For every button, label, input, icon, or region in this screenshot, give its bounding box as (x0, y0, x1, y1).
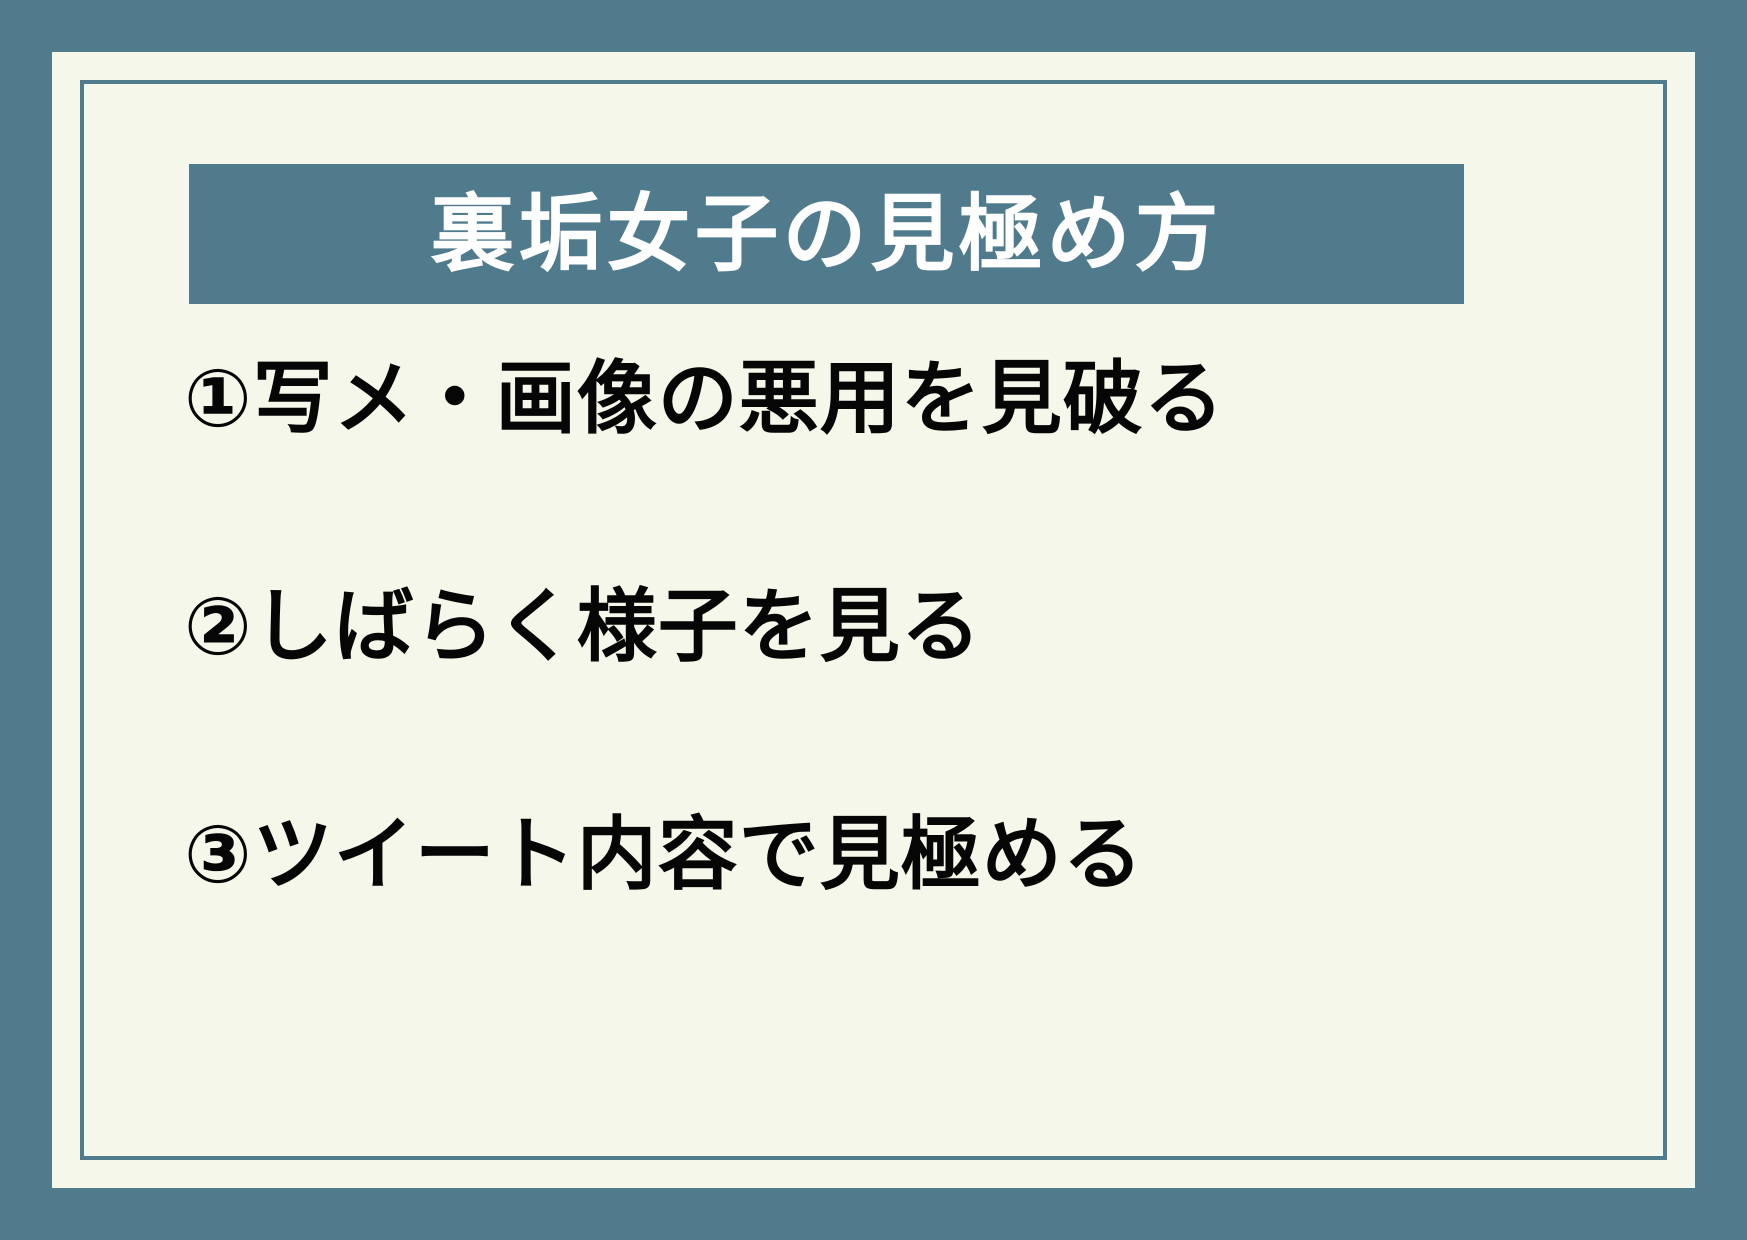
slide-canvas: 裏垢女子の見極め方 ①写メ・画像の悪用を見破る ②しばらく様子を見る ③ツイート… (0, 0, 1747, 1240)
point-2-label: ②しばらく様子を見る (184, 587, 982, 667)
list-item: ③ツイート内容で見極める (184, 815, 1623, 1043)
title-banner: 裏垢女子の見極め方 (189, 164, 1464, 304)
points-list: ①写メ・画像の悪用を見破る ②しばらく様子を見る ③ツイート内容で見極める (184, 359, 1623, 1116)
point-3-label: ③ツイート内容で見極める (184, 815, 1144, 895)
point-1-label: ①写メ・画像の悪用を見破る (184, 359, 1225, 439)
card-frame: 裏垢女子の見極め方 ①写メ・画像の悪用を見破る ②しばらく様子を見る ③ツイート… (52, 52, 1695, 1188)
list-item: ②しばらく様子を見る (184, 587, 1623, 815)
list-item: ①写メ・画像の悪用を見破る (184, 359, 1623, 587)
card-inner-border: 裏垢女子の見極め方 ①写メ・画像の悪用を見破る ②しばらく様子を見る ③ツイート… (80, 80, 1667, 1160)
page-title: 裏垢女子の見極め方 (430, 192, 1222, 276)
